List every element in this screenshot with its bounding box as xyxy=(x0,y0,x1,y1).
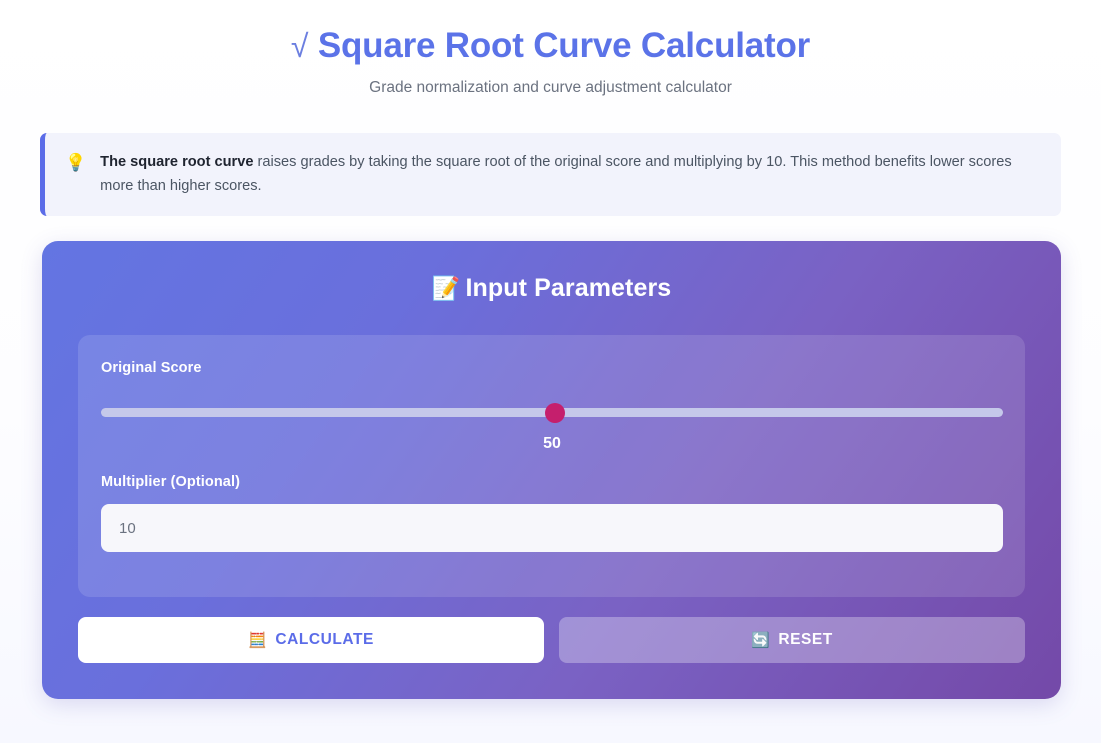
page-subtitle: Grade normalization and curve adjustment… xyxy=(0,79,1101,97)
original-score-value: 50 xyxy=(101,435,1003,453)
info-banner-bold-text: The square root curve xyxy=(100,154,253,170)
refresh-icon: 🔄 xyxy=(751,631,770,649)
page-title: √ Square Root Curve Calculator xyxy=(0,0,1101,68)
card-header-title: Input Parameters xyxy=(465,274,671,302)
reset-button[interactable]: 🔄 RESET xyxy=(559,617,1025,663)
card-header: 📝Input Parameters xyxy=(42,241,1061,303)
page-title-text: Square Root Curve Calculator xyxy=(318,26,810,65)
original-score-slider[interactable] xyxy=(101,403,1002,421)
input-parameters-card: 📝Input Parameters Original Score 50 Mult… xyxy=(42,241,1061,699)
memo-icon: 📝 xyxy=(432,275,461,301)
reset-button-label: RESET xyxy=(778,631,832,649)
slider-thumb[interactable] xyxy=(545,403,565,423)
action-buttons: 🧮 CALCULATE 🔄 RESET xyxy=(78,617,1025,663)
calculate-button[interactable]: 🧮 CALCULATE xyxy=(78,617,544,663)
multiplier-label: Multiplier (Optional) xyxy=(101,474,1002,490)
square-root-icon: √ xyxy=(291,28,308,64)
info-banner: 💡 The square root curve raises grades by… xyxy=(40,133,1061,216)
lightbulb-icon: 💡 xyxy=(65,152,86,175)
page-root: √ Square Root Curve Calculator Grade nor… xyxy=(0,0,1101,743)
calculate-button-label: CALCULATE xyxy=(275,631,374,649)
info-banner-text: The square root curve raises grades by t… xyxy=(100,151,1039,198)
multiplier-input[interactable] xyxy=(101,504,1003,552)
abacus-icon: 🧮 xyxy=(248,631,267,649)
original-score-label: Original Score xyxy=(101,360,202,376)
parameters-panel: Original Score 50 Multiplier (Optional) xyxy=(78,335,1025,597)
